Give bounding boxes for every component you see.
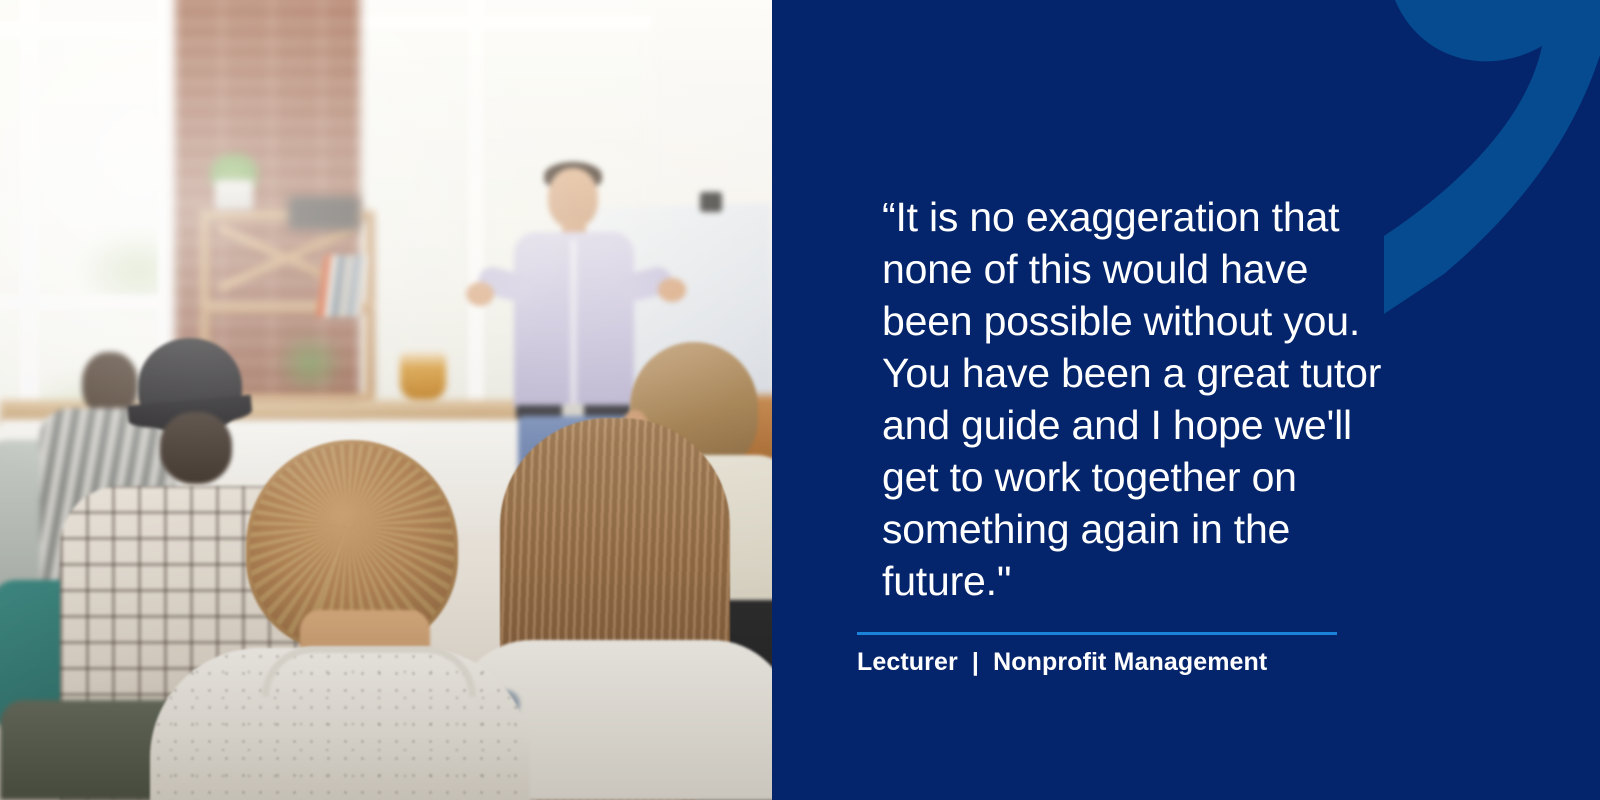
plant-pot (215, 180, 253, 210)
presenter-right-hand (658, 278, 686, 302)
tshirt-collar (262, 646, 476, 697)
presenter-left-hand (466, 282, 494, 306)
flip-chart-clip (700, 192, 722, 212)
shelf-box (288, 196, 360, 230)
books-on-shelf (316, 255, 368, 317)
lecture-photo (0, 0, 772, 800)
attribution-text: Lecturer | Nonprofit Management (857, 648, 1267, 677)
presenter-shirt-placket (570, 240, 577, 408)
quote-text: “It is no exaggeration that none of this… (882, 191, 1402, 607)
window-mullion-horizontal (352, 15, 652, 30)
attribution-divider (857, 632, 1337, 635)
quote-panel: “It is no exaggeration that none of this… (772, 0, 1600, 800)
testimonial-card: “It is no exaggeration that none of this… (0, 0, 1600, 800)
lower-shelf-plant (275, 330, 345, 390)
glass-jar (400, 352, 446, 400)
audience-member-cap-face (160, 412, 232, 484)
